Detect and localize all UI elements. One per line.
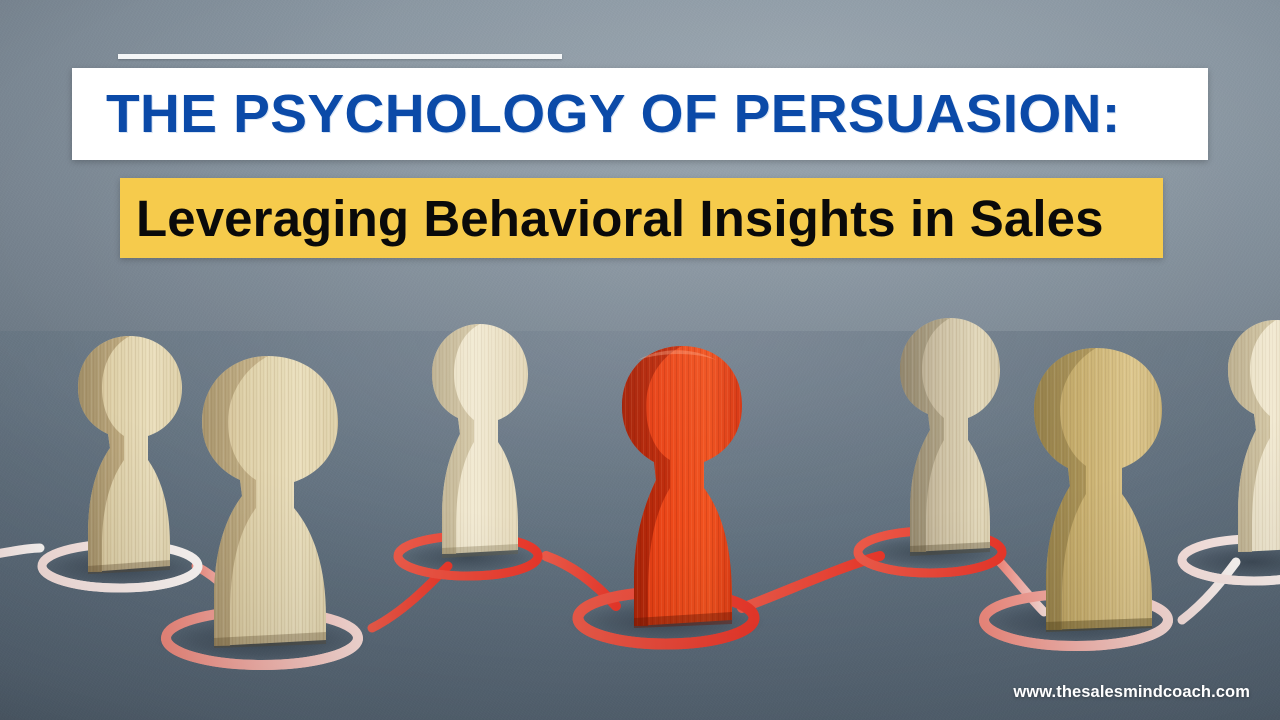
- website-url[interactable]: www.thesalesmindcoach.com: [1013, 683, 1250, 702]
- poster-canvas: THE PSYCHOLOGY OF PERSUASION: Leveraging…: [0, 0, 1280, 720]
- top-accent-rule: [118, 54, 562, 59]
- page-subtitle: Leveraging Behavioral Insights in Sales: [136, 193, 1104, 244]
- subtitle-banner: Leveraging Behavioral Insights in Sales: [120, 178, 1163, 258]
- title-banner: THE PSYCHOLOGY OF PERSUASION:: [72, 68, 1208, 160]
- page-title: THE PSYCHOLOGY OF PERSUASION:: [106, 87, 1121, 141]
